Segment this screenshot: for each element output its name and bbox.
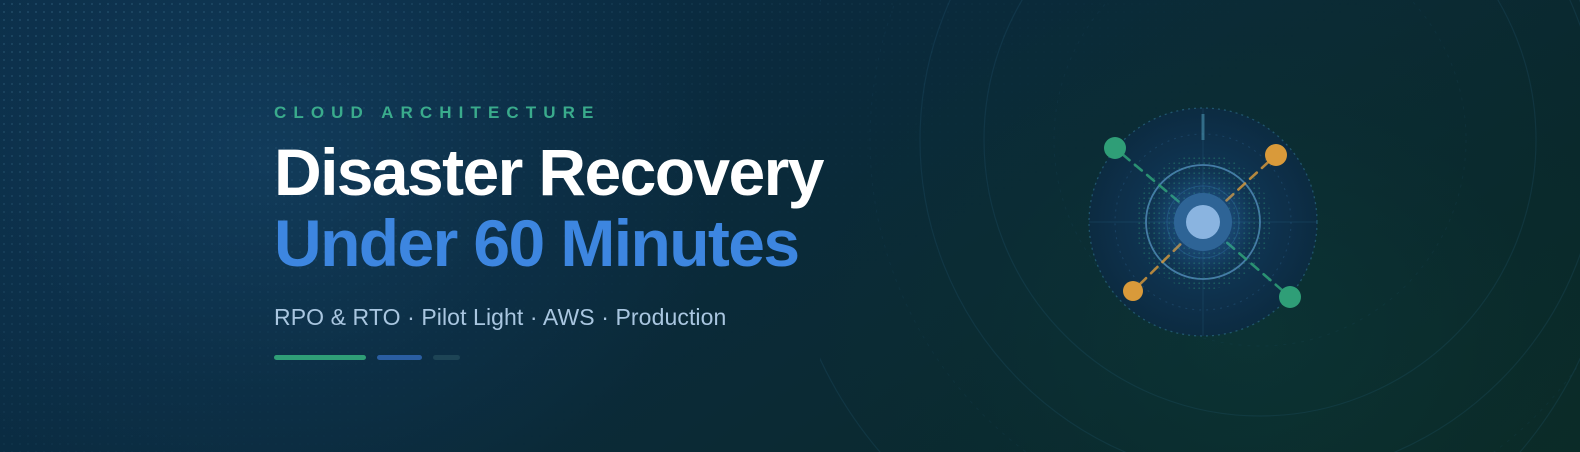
radar-svg (1063, 82, 1343, 362)
page-title-line-2: Under 60 Minutes (274, 211, 1034, 276)
hub-core (1186, 205, 1220, 239)
node-bottom-right (1279, 286, 1301, 308)
accent-bar-blue (377, 355, 422, 360)
radar-graphic (1063, 82, 1343, 362)
accent-bar-group (274, 355, 1034, 360)
node-top-left (1104, 137, 1126, 159)
accent-bar-muted (433, 355, 460, 360)
accent-bar-green (274, 355, 366, 360)
eyebrow-label: CLOUD ARCHITECTURE (274, 104, 1034, 121)
node-top-right (1265, 144, 1287, 166)
hero-copy-block: CLOUD ARCHITECTURE Disaster Recovery Und… (274, 104, 1034, 360)
node-bottom-left (1123, 281, 1143, 301)
hero-banner: CLOUD ARCHITECTURE Disaster Recovery Und… (0, 0, 1580, 452)
subtitle-keywords: RPO & RTO · Pilot Light · AWS · Producti… (274, 303, 1034, 332)
page-title: Disaster Recovery Under 60 Minutes (274, 140, 1034, 277)
page-title-line-1: Disaster Recovery (274, 140, 1034, 205)
